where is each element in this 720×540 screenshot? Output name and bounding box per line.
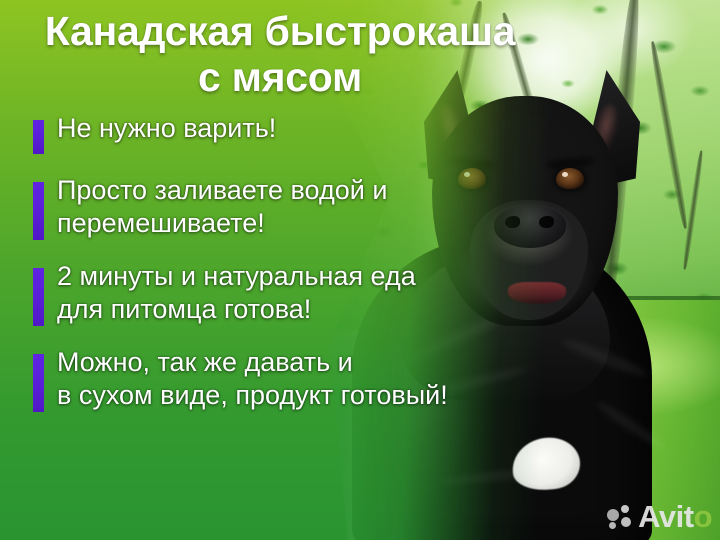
advertisement-banner: Канадская быстрокаша с мясом Не нужно ва… (0, 0, 720, 540)
list-item: Можно, так же давать и в сухом виде, про… (33, 346, 633, 412)
list-item: Не нужно варить! (33, 112, 633, 154)
bullet-bar-icon (33, 354, 44, 412)
list-item: Просто заливаете водой и перемешиваете! (33, 174, 633, 240)
benefit-list: Не нужно варить! Просто заливаете водой … (33, 112, 633, 432)
avito-wordmark-main: Avit (638, 499, 693, 534)
avito-wordmark: Avito (638, 501, 712, 532)
headline-line-1: Канадская быстрокаша (0, 8, 560, 54)
list-item-label: Не нужно варить! (57, 112, 276, 145)
banner-content: Канадская быстрокаша с мясом Не нужно ва… (0, 0, 720, 540)
bullet-bar-icon (33, 268, 44, 326)
avito-dots-icon (607, 505, 633, 529)
avito-watermark: Avito (607, 501, 712, 532)
avito-wordmark-accent: o (694, 499, 712, 534)
headline-line-2: с мясом (0, 54, 560, 100)
page-title: Канадская быстрокаша с мясом (0, 8, 560, 100)
list-item-label: 2 минуты и натуральная еда для питомца г… (57, 260, 416, 326)
bullet-bar-icon (33, 120, 44, 154)
list-item-label: Просто заливаете водой и перемешиваете! (57, 174, 387, 240)
bullet-bar-icon (33, 182, 44, 240)
list-item-label: Можно, так же давать и в сухом виде, про… (57, 346, 448, 412)
list-item: 2 минуты и натуральная еда для питомца г… (33, 260, 633, 326)
